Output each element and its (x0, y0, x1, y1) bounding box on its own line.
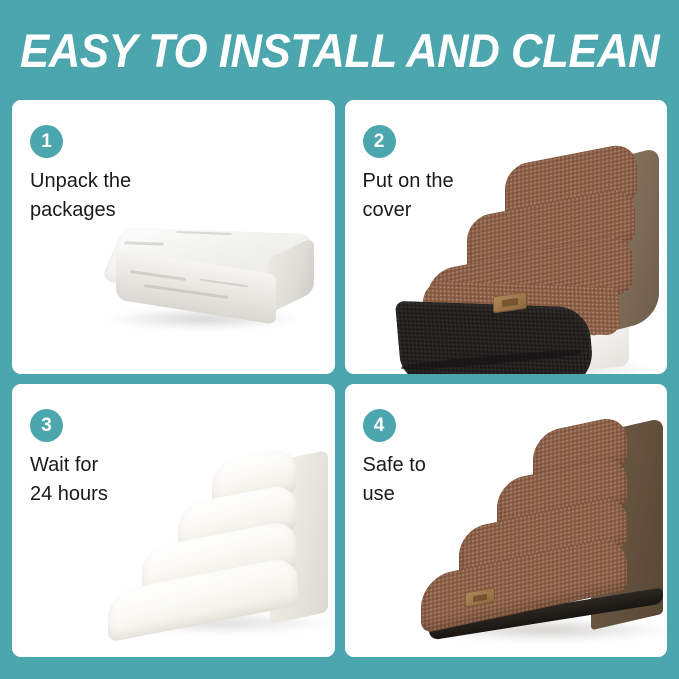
step-caption-1: Unpack the packages (30, 167, 190, 225)
step-card-2: 2 Put on the cover (345, 100, 668, 374)
page-title: EASY TO INSTALL AND CLEAN (20, 27, 659, 74)
compressed-package-image (100, 212, 310, 342)
step-card-4: 4 Safe to use (345, 384, 668, 658)
step-number-badge-1: 1 (30, 125, 63, 158)
step-number-badge-4: 4 (363, 409, 396, 442)
infographic-root: EASY TO INSTALL AND CLEAN 1 Unpack t (0, 0, 679, 679)
step-caption-4: Safe to use (363, 451, 523, 509)
step-caption-2: Put on the cover (363, 167, 523, 225)
step-card-1: 1 Unpack the packages (12, 100, 335, 374)
step-card-3: 24 3 Wait for 24 hours (12, 384, 335, 658)
step-number-badge-2: 2 (363, 125, 396, 158)
step-caption-3: Wait for 24 hours (30, 451, 190, 509)
step-number-badge-3: 3 (30, 409, 63, 442)
header-banner: EASY TO INSTALL AND CLEAN (0, 0, 679, 100)
steps-grid: 1 Unpack the packages 2 (0, 100, 679, 668)
